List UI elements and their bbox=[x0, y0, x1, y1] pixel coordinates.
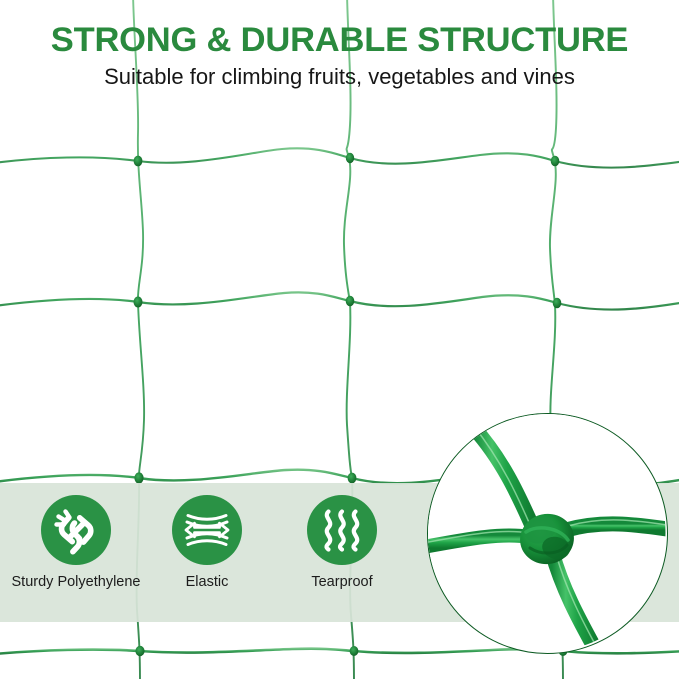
feature-badge-tearproof bbox=[307, 495, 377, 565]
feature-label-elastic: Elastic bbox=[137, 574, 277, 591]
feature-item-elastic: Elastic bbox=[137, 483, 277, 591]
broken-chain-icon bbox=[41, 495, 111, 565]
net-knot-detail bbox=[427, 413, 667, 653]
stretch-arrow-icon bbox=[172, 495, 242, 565]
feature-badge-elastic bbox=[172, 495, 242, 565]
wavy-lines-icon bbox=[307, 495, 377, 565]
knot-closeup-magnifier bbox=[427, 413, 668, 654]
feature-item-sturdy-polyethylene: Sturdy Polyethylene bbox=[6, 483, 146, 591]
feature-item-tearproof: Tearproof bbox=[272, 483, 412, 591]
feature-label-tearproof: Tearproof bbox=[272, 574, 412, 591]
product-infographic: STRONG & DURABLE STRUCTURE Suitable for … bbox=[0, 0, 679, 679]
feature-badge-sturdy-polyethylene bbox=[41, 495, 111, 565]
feature-label-sturdy-polyethylene: Sturdy Polyethylene bbox=[6, 574, 146, 591]
